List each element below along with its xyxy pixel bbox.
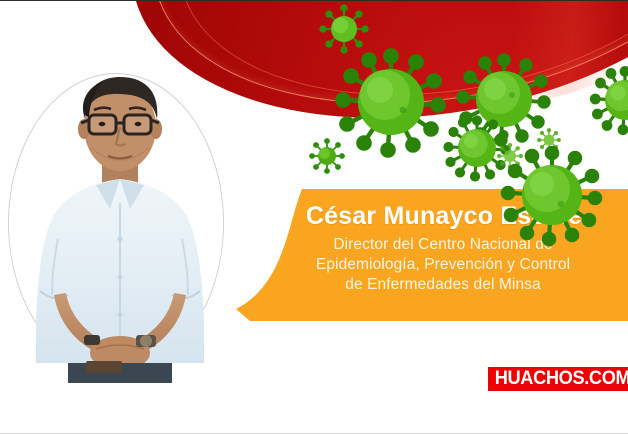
info-banner-content: César Munayco Escate Director del Centro…: [236, 189, 628, 321]
blood-cell-sheen: [270, 1, 628, 140]
virus-particle-icon: [495, 141, 525, 171]
person-name: César Munayco Escate: [306, 203, 582, 230]
virus-particle-icon: [440, 111, 514, 185]
person-role-line-3: de Enfermedades del Minsa: [316, 275, 570, 295]
person-role: Director del Centro Nacional de Epidemio…: [316, 235, 570, 295]
huachos-logo[interactable]: HUACHOS.COM: [488, 367, 628, 391]
virus-particle-icon: [330, 41, 452, 163]
virus-particle-icon: [586, 61, 628, 139]
person-role-line-1: Director del Centro Nacional de: [316, 235, 570, 255]
person-role-line-2: Epidemiología, Prevención y Control: [316, 255, 570, 275]
virus-particle-icon: [452, 47, 556, 151]
poster-canvas: César Munayco Escate Director del Centro…: [0, 0, 628, 434]
virus-particle-icon: [314, 1, 374, 57]
virus-particle-icon: [535, 126, 563, 154]
portrait-photo-icon: [10, 63, 230, 383]
virus-particle-icon: [306, 135, 348, 177]
